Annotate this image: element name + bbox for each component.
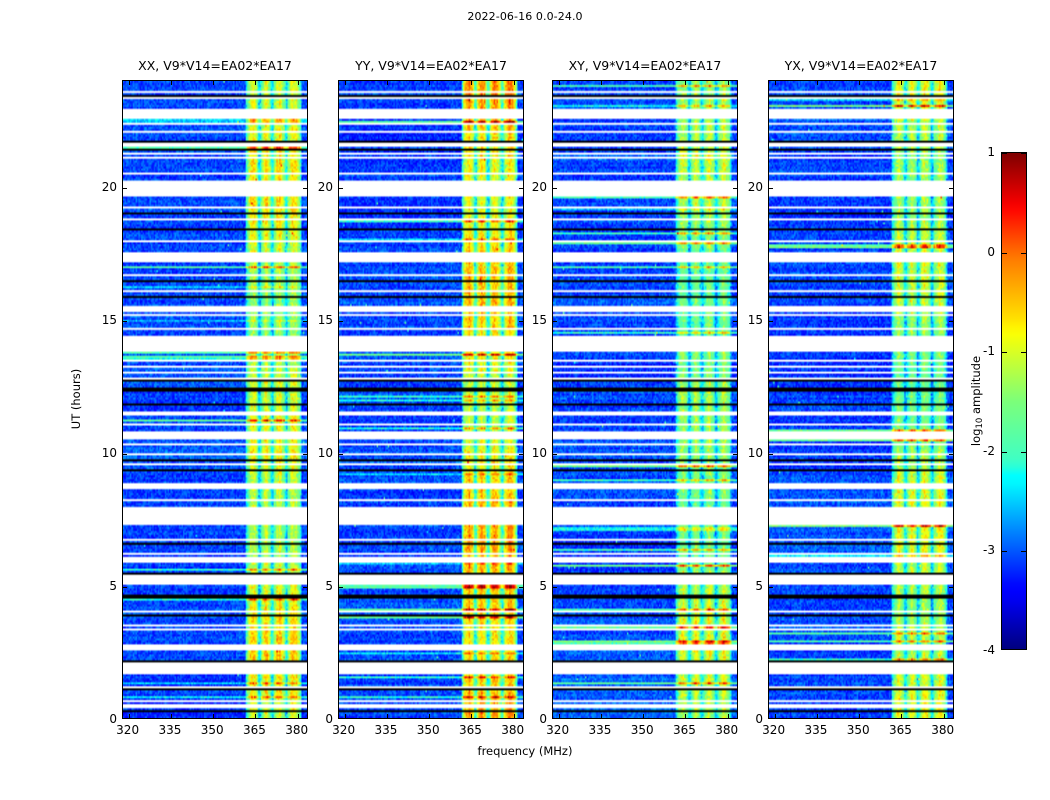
y-tick-label: 20 [729,180,763,194]
x-tick-mark [171,81,172,85]
y-tick-label: 15 [83,313,117,327]
y-tick-mark [949,188,953,189]
colorbar-tick-label: 1 [965,145,995,159]
x-tick-mark [298,81,299,85]
x-tick-label: 320 [116,723,139,737]
x-tick-label: 335 [588,723,611,737]
x-tick-mark [944,81,945,85]
x-tick-mark [643,81,644,85]
x-tick-label: 320 [332,723,355,737]
spectrogram-panel-xy[interactable] [552,80,738,719]
colorbar[interactable] [1001,152,1027,650]
colorbar-tick-label: 0 [965,245,995,259]
y-tick-label: 20 [299,180,333,194]
y-tick-label: 5 [513,579,547,593]
y-tick-mark [949,587,953,588]
x-tick-mark [129,81,130,85]
colorbar-label-main: log [969,429,983,447]
y-tick-mark [123,188,127,189]
x-tick-mark [601,714,602,718]
y-tick-label: 15 [299,313,333,327]
x-tick-mark [944,714,945,718]
spectrogram-canvas [123,81,307,718]
x-tick-mark [685,714,686,718]
spectrogram-image [553,81,737,718]
spectrogram-canvas [339,81,523,718]
colorbar-gradient [1002,153,1026,649]
x-tick-mark [213,714,214,718]
x-tick-label: 350 [847,723,870,737]
x-tick-mark [129,714,130,718]
x-tick-mark [255,81,256,85]
x-tick-mark [471,81,472,85]
x-tick-mark [685,81,686,85]
y-tick-mark [553,188,557,189]
y-tick-label: 10 [83,446,117,460]
x-tick-label: 350 [417,723,440,737]
spectrogram-image [769,81,953,718]
y-tick-label: 5 [729,579,763,593]
panel-title-yx: YX, V9*V14=EA02*EA17 [768,58,954,73]
y-tick-mark [339,587,343,588]
y-tick-mark [553,454,557,455]
y-tick-mark [769,188,773,189]
y-tick-label: 15 [729,313,763,327]
x-tick-mark [471,714,472,718]
x-tick-mark [171,714,172,718]
x-tick-label: 335 [374,723,397,737]
x-tick-mark [387,81,388,85]
figure-suptitle: 2022-06-16 0.0-24.0 [0,10,1050,23]
x-tick-label: 365 [459,723,482,737]
colorbar-tick-mark [1002,153,1007,154]
y-tick-mark [949,321,953,322]
y-tick-mark [949,454,953,455]
colorbar-tick-mark [1002,452,1007,453]
colorbar-tick-mark [1002,253,1007,254]
colorbar-tick-mark [1002,352,1007,353]
y-tick-label: 15 [513,313,547,327]
y-tick-mark [339,454,343,455]
spectrogram-canvas [553,81,737,718]
spectrogram-panel-yy[interactable] [338,80,524,719]
x-tick-mark [559,81,560,85]
x-tick-label: 350 [201,723,224,737]
colorbar-label-tail: amplitude [969,356,983,418]
x-tick-label: 365 [243,723,266,737]
x-tick-mark [213,81,214,85]
spectrogram-image [339,81,523,718]
x-tick-label: 320 [546,723,569,737]
colorbar-label-sub: 10 [975,418,985,429]
panel-title-yy: YY, V9*V14=EA02*EA17 [338,58,524,73]
y-tick-label: 10 [299,446,333,460]
x-tick-label: 335 [804,723,827,737]
x-tick-mark [817,81,818,85]
y-axis-label: UT (hours) [69,369,83,429]
y-tick-mark [553,587,557,588]
spectrogram-image [123,81,307,718]
colorbar-tick-mark [1021,253,1026,254]
y-tick-label: 5 [83,579,117,593]
colorbar-tick-label: -4 [965,643,995,657]
y-tick-label: 20 [513,180,547,194]
y-tick-label: 0 [299,712,333,726]
colorbar-tick-mark [1021,153,1026,154]
colorbar-tick-label: -3 [965,543,995,557]
y-tick-label: 0 [513,712,547,726]
colorbar-tick-mark [1021,551,1026,552]
x-axis-label: frequency (MHz) [0,744,1050,758]
colorbar-tick-mark [1021,352,1026,353]
x-tick-mark [901,714,902,718]
x-tick-mark [643,714,644,718]
y-tick-label: 0 [729,712,763,726]
x-tick-mark [429,714,430,718]
x-tick-mark [601,81,602,85]
x-tick-mark [859,81,860,85]
y-tick-label: 10 [729,446,763,460]
x-tick-mark [817,714,818,718]
x-tick-mark [345,714,346,718]
y-tick-mark [769,321,773,322]
colorbar-tick-mark [1021,452,1026,453]
spectrogram-panel-yx[interactable] [768,80,954,719]
y-tick-mark [769,587,773,588]
x-tick-label: 365 [673,723,696,737]
x-tick-mark [255,714,256,718]
colorbar-tick-mark [1002,551,1007,552]
figure-canvas: 2022-06-16 0.0-24.0 UT (hours) frequency… [0,0,1050,800]
x-tick-mark [345,81,346,85]
x-tick-mark [429,81,430,85]
y-tick-mark [553,321,557,322]
x-tick-mark [728,81,729,85]
y-tick-label: 5 [299,579,333,593]
panel-title-xy: XY, V9*V14=EA02*EA17 [552,58,738,73]
x-tick-mark [901,81,902,85]
y-tick-mark [123,587,127,588]
spectrogram-canvas [769,81,953,718]
y-tick-mark [123,454,127,455]
x-tick-label: 335 [158,723,181,737]
x-tick-mark [775,714,776,718]
x-tick-mark [775,81,776,85]
x-tick-mark [859,714,860,718]
y-tick-mark [123,321,127,322]
x-tick-label: 350 [631,723,654,737]
spectrogram-panel-xx[interactable] [122,80,308,719]
y-tick-mark [339,321,343,322]
x-tick-mark [514,81,515,85]
y-tick-mark [769,454,773,455]
x-tick-label: 380 [931,723,954,737]
panel-title-xx: XX, V9*V14=EA02*EA17 [122,58,308,73]
x-tick-mark [387,714,388,718]
y-tick-label: 0 [83,712,117,726]
x-tick-mark [559,714,560,718]
x-tick-label: 320 [762,723,785,737]
y-tick-label: 20 [83,180,117,194]
x-tick-label: 365 [889,723,912,737]
colorbar-label: log10 amplitude [969,356,985,446]
y-tick-label: 10 [513,446,547,460]
y-tick-mark [339,188,343,189]
